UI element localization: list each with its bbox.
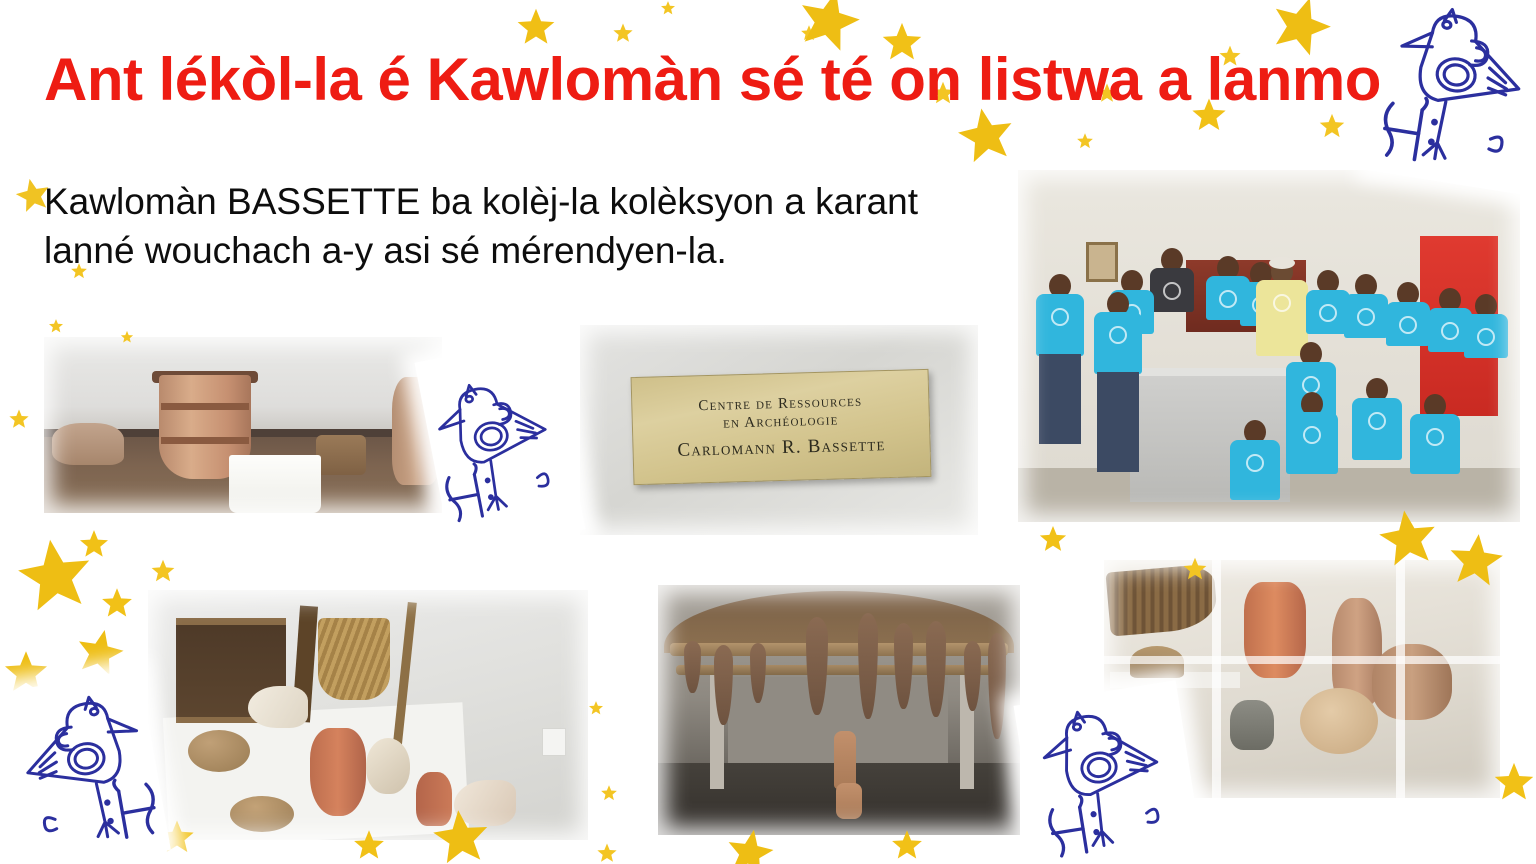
- bird-logo-card: [0, 668, 171, 864]
- pottery-shelf-photo: [44, 337, 442, 513]
- bird-logo-card: [415, 337, 586, 555]
- case-mullion: [1104, 656, 1500, 664]
- star-icon: [1038, 524, 1068, 554]
- clay-figurine: [836, 783, 862, 819]
- vase-band: [161, 403, 249, 410]
- person-shirt: [1352, 398, 1402, 460]
- person-shirt: [1286, 412, 1338, 474]
- star-icon: [8, 408, 30, 430]
- wall-socket: [542, 728, 566, 756]
- star-icon: [352, 828, 386, 862]
- star-icon: [427, 803, 495, 864]
- stone-artifact: [52, 423, 124, 465]
- white-bowl: [229, 455, 321, 513]
- star-icon: [120, 330, 134, 344]
- bird-petroglyph-icon: [1014, 680, 1203, 864]
- student-person: [1094, 292, 1142, 422]
- clay-figurine: [834, 731, 856, 789]
- plaque-line-3: Carlomann R. Bassette: [677, 434, 886, 462]
- person-shirt: [1150, 268, 1194, 312]
- case-mullion: [1212, 560, 1221, 798]
- star-icon: [890, 828, 924, 862]
- artifacts-photo: [148, 590, 588, 840]
- student-person: [1344, 274, 1388, 386]
- person-shirt: [1230, 440, 1280, 500]
- star-icon: [78, 528, 110, 560]
- stone-artifact: [1230, 700, 1274, 750]
- person-shirt: [1036, 294, 1084, 356]
- carved-stone: [188, 730, 250, 772]
- student-person: [1352, 378, 1402, 498]
- star-icon: [100, 586, 134, 620]
- woven-basket: [318, 618, 390, 700]
- star-icon: [1372, 502, 1444, 574]
- star-icon: [1076, 132, 1094, 150]
- case-mullion: [1396, 560, 1405, 798]
- person-jeans: [1039, 354, 1081, 444]
- star-icon: [1492, 760, 1536, 804]
- student-person: [1464, 294, 1508, 406]
- plaque-photo: Centre de Ressources en Archéologie Carl…: [580, 325, 978, 535]
- star-icon: [612, 22, 634, 44]
- star-icon: [1443, 527, 1509, 593]
- star-icon: [1318, 112, 1346, 140]
- student-person: [1410, 394, 1460, 512]
- slide-title: Ant lékòl-la é Kawlomàn sé té on listwa …: [44, 48, 1524, 111]
- terracotta-jug: [310, 728, 366, 816]
- conch-shell: [248, 686, 308, 728]
- student-person: [1230, 420, 1280, 522]
- person-jeans: [1097, 372, 1139, 472]
- slide-canvas: Ant lékòl-la é Kawlomàn sé té on listwa …: [0, 0, 1536, 864]
- vase-band: [161, 437, 249, 444]
- student-person: [1036, 274, 1084, 404]
- slide-body-text: Kawlomàn BASSETTE ba kolèj-la kolèksyon …: [44, 178, 989, 276]
- bird-logo-card: [1014, 680, 1203, 864]
- bird-petroglyph-icon: [415, 337, 586, 555]
- star-icon: [515, 6, 557, 48]
- star-icon: [596, 842, 618, 864]
- person-shirt: [1464, 314, 1508, 358]
- conch-shell: [366, 738, 410, 794]
- star-icon: [150, 558, 176, 584]
- bird-petroglyph-icon: [0, 668, 171, 864]
- person-shirt: [1344, 294, 1388, 338]
- star-icon: [660, 0, 676, 16]
- group-photo: [1018, 170, 1520, 522]
- carved-stone: [230, 796, 294, 832]
- person-shirt: [1386, 302, 1430, 346]
- person-shirt: [1094, 312, 1142, 374]
- star-icon: [48, 318, 64, 334]
- brass-plaque: Centre de Ressources en Archéologie Carl…: [631, 369, 932, 485]
- star-icon: [600, 784, 618, 802]
- plaque-line-2: en Archéologie: [723, 412, 839, 432]
- adult-person: [1150, 248, 1194, 352]
- small-pot: [316, 435, 366, 475]
- student-person: [1286, 392, 1338, 512]
- brain-coral: [1300, 688, 1378, 754]
- person-shirt: [1410, 414, 1460, 474]
- star-icon: [1182, 556, 1208, 582]
- star-icon: [588, 700, 604, 716]
- carbet-hut-photo: [658, 585, 1020, 835]
